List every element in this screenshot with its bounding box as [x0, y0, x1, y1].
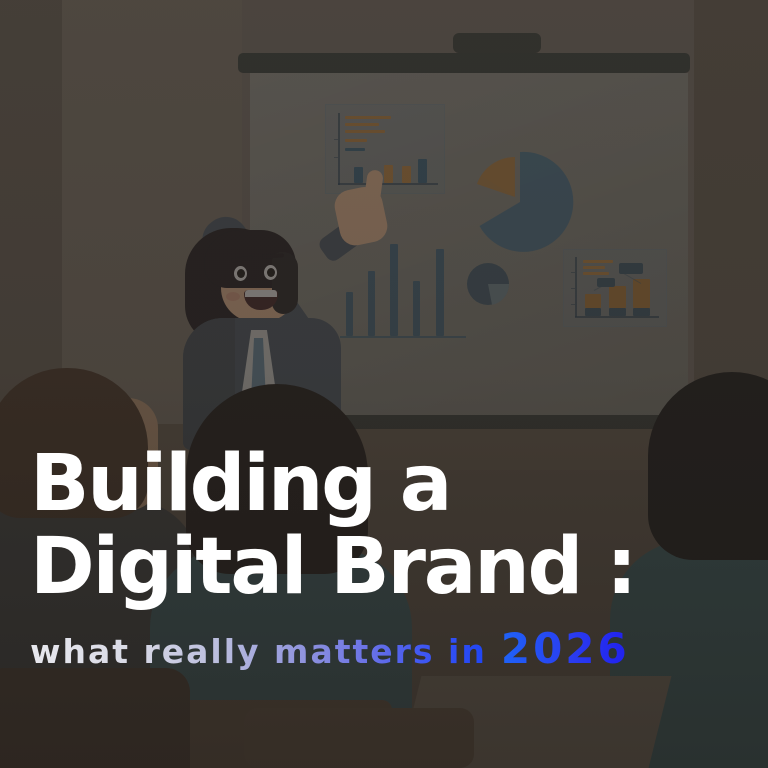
presenter-teeth: [245, 290, 277, 297]
x-axis: [575, 316, 659, 318]
annotation-bubble-2: [619, 263, 643, 274]
screen-pie-large: [466, 148, 574, 256]
annotation-bubble-1: [597, 278, 615, 287]
screen-top-rail: [238, 53, 690, 73]
presenter-hair-side: [272, 252, 298, 314]
y-tick-1: [571, 272, 575, 273]
foreground-chair-left: [0, 668, 190, 768]
bar-1: [346, 292, 353, 336]
pie-small-svg: [466, 262, 510, 306]
card-bar-4: [418, 159, 427, 183]
y-tick-3: [571, 304, 575, 305]
slide-card-bottom-right: [563, 249, 667, 327]
card-bar-1: [354, 167, 363, 183]
chart-baseline: [340, 336, 466, 338]
x-axis: [338, 183, 438, 185]
y-tick-2: [334, 157, 338, 158]
legend-entry-5: [345, 148, 365, 151]
legend-entry-2: [345, 123, 379, 126]
bar-3: [390, 244, 398, 336]
presenter-cheek: [226, 292, 240, 301]
y-tick-2: [571, 288, 575, 289]
legend-entry-1: [345, 116, 391, 119]
y-axis: [575, 257, 577, 317]
stack-1-top: [585, 294, 601, 308]
presenter-eye-left: [234, 266, 247, 281]
stack-1-base: [585, 308, 601, 316]
stack-3-base: [633, 308, 650, 316]
slide-card-top-left: [325, 104, 445, 194]
foreground-chair-center: [244, 708, 474, 768]
y-axis: [338, 113, 340, 185]
stack-3-top: [633, 279, 650, 308]
card-bar-2: [384, 165, 393, 183]
stack-2-base: [609, 308, 626, 316]
presenter-eye-right: [264, 265, 277, 280]
illustration-scene: [0, 0, 768, 768]
pie-large-svg: [466, 148, 574, 256]
screen-pie-small: [466, 262, 510, 306]
audience-center-hair: [186, 384, 368, 574]
card-bar-3: [402, 166, 411, 183]
legend-entry-4: [345, 139, 367, 142]
bar-4: [413, 281, 420, 336]
y-tick-1: [334, 139, 338, 140]
legend-entry-3: [583, 272, 609, 275]
stack-2-top: [609, 286, 626, 308]
poster-canvas: Building a Digital Brand : what really m…: [0, 0, 768, 768]
legend-entry-2: [583, 266, 605, 269]
legend-entry-1: [583, 260, 613, 263]
bar-5: [436, 249, 444, 336]
bar-2: [368, 271, 375, 336]
legend-entry-3: [345, 130, 385, 133]
